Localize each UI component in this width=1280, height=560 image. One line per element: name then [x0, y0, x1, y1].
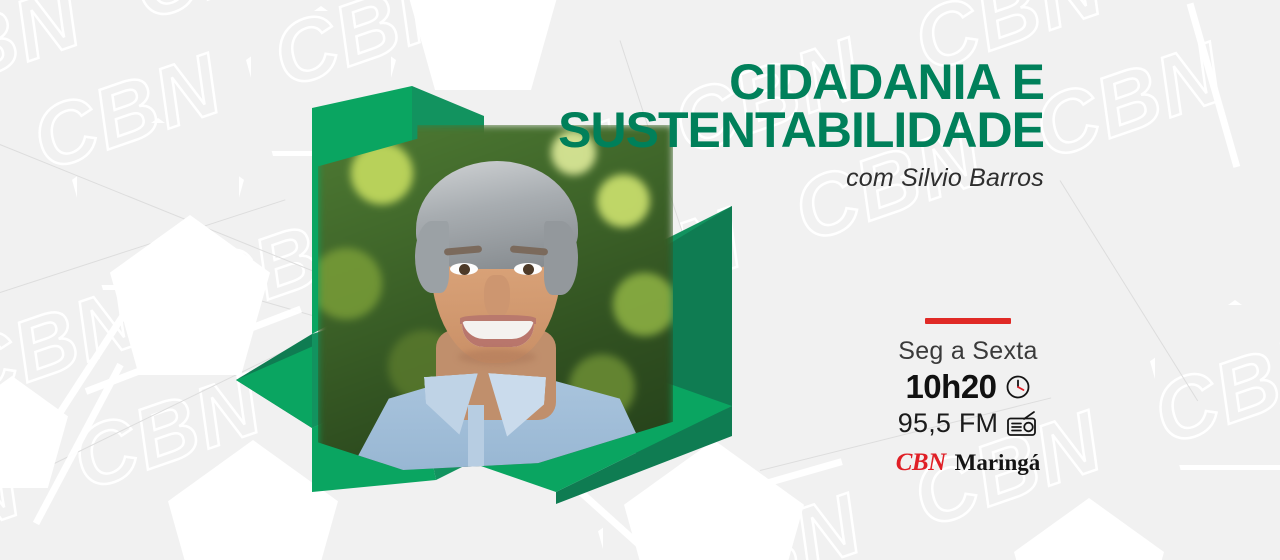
chin-shadow [458, 349, 536, 365]
radio-icon [1006, 411, 1038, 437]
shirt-placket [468, 405, 484, 470]
schedule-time: 10h20 [905, 368, 996, 406]
hair-side-left [415, 221, 449, 293]
schedule-days: Seg a Sexta [868, 338, 1068, 364]
schedule-time-row: 10h20 [868, 368, 1068, 406]
schedule-frequency-row: 95,5 FM [868, 408, 1068, 439]
schedule-divider [925, 318, 1011, 324]
clock-icon [1005, 374, 1031, 400]
smile-mouth [462, 321, 534, 347]
hair-side-right [544, 221, 578, 295]
iris-right [523, 264, 534, 275]
program-title-line-1: CIDADANIA E [344, 58, 1044, 106]
station-city: Maringá [955, 450, 1041, 476]
program-host-subtitle: com Silvio Barros [344, 164, 1044, 193]
program-title-line-2: SUSTENTABILIDADE [344, 106, 1044, 154]
schedule-frequency: 95,5 FM [898, 408, 998, 439]
station-brand: CBN [896, 449, 946, 477]
program-title-block: CIDADANIA E SUSTENTABILIDADE com Silvio … [344, 58, 1044, 193]
nose [484, 275, 510, 319]
schedule-block: Seg a Sexta 10h20 95,5 FM [868, 318, 1068, 477]
station-logo: CBN Maringá [868, 449, 1068, 477]
iris-left [459, 264, 470, 275]
program-banner: CBNCBNCBNCBNCBNCBN CBNCBNCBNCBNCBNCBN CB… [0, 0, 1280, 560]
